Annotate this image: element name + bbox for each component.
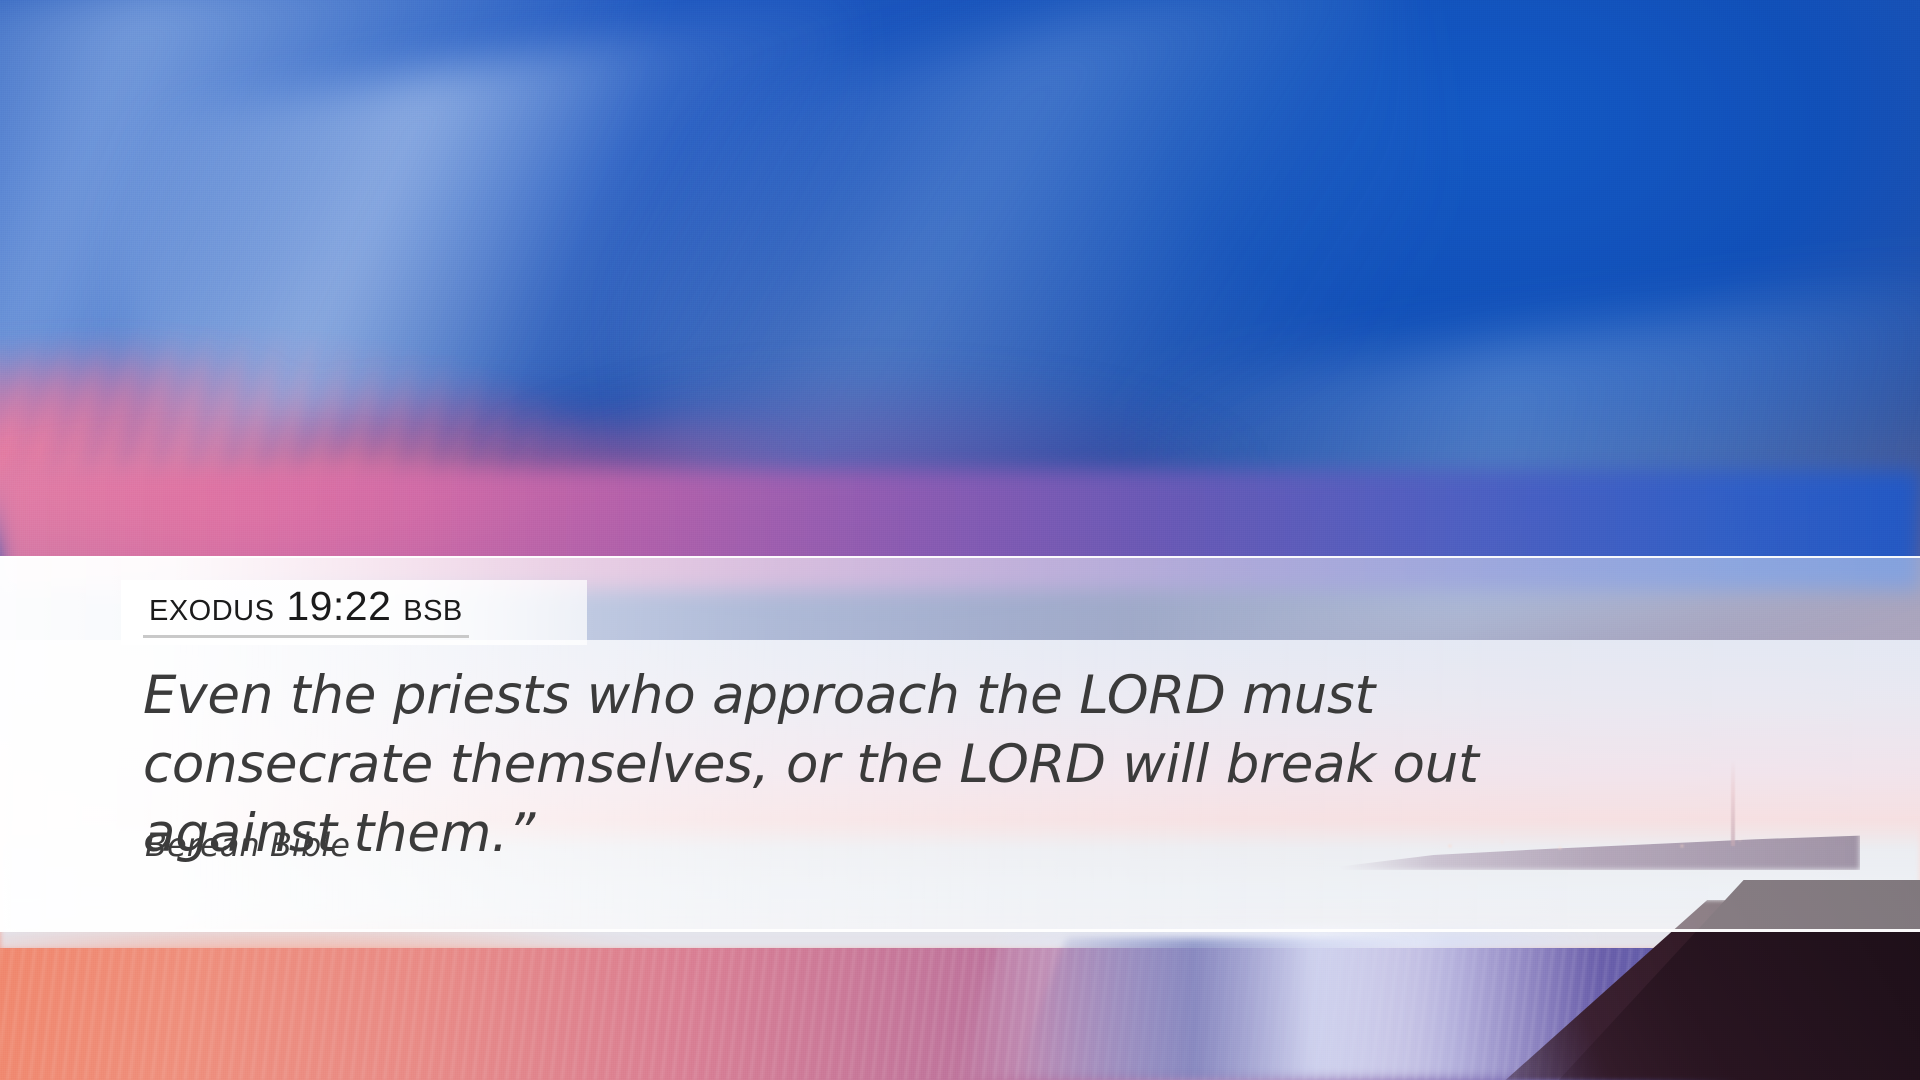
- verse-attribution: Berean Bible: [145, 826, 350, 864]
- verse-reference-plate: Exodus 19:22 BSB: [121, 580, 587, 645]
- verse-overlay-band: Exodus 19:22 BSB Even the priests who ap…: [0, 556, 1920, 932]
- wave-crest-shadow: [1014, 938, 1486, 1080]
- verse-text: Even the priests who approach the LORD m…: [143, 662, 1563, 869]
- verse-reference: Exodus 19:22 BSB: [143, 584, 469, 638]
- verse-content: Exodus 19:22 BSB Even the priests who ap…: [143, 558, 1883, 929]
